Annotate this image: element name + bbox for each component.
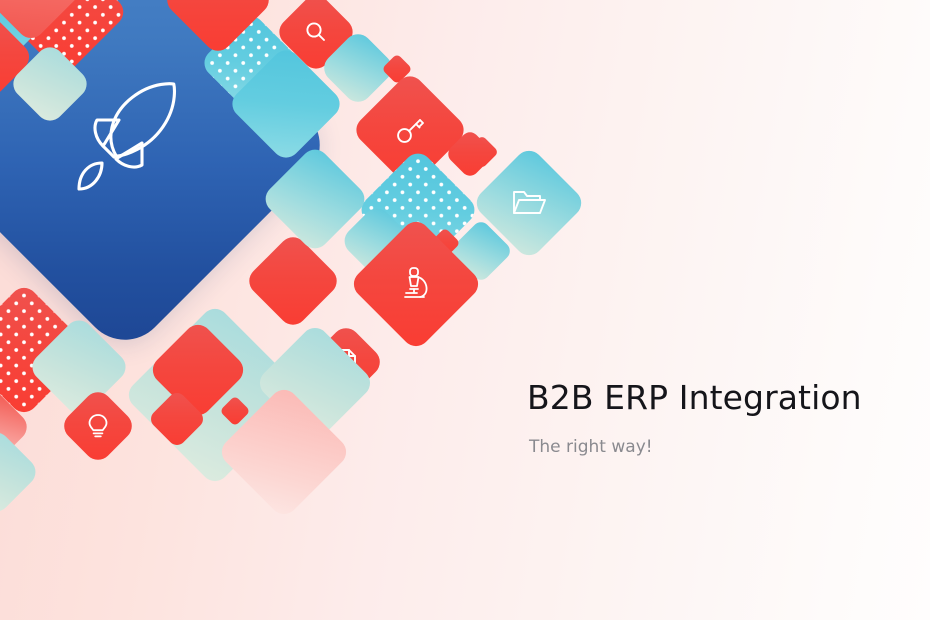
microscope-icon [396,264,436,304]
key-icon [393,113,427,147]
search-icon [303,19,329,45]
folder-icon [511,187,547,219]
bulb-icon [86,413,110,439]
slide-canvas: B2B ERP Integration The right way! [0,0,930,620]
page-subtitle: The right way! [529,435,887,459]
title-block: B2B ERP Integration The right way! [527,378,887,459]
tile-cyan-far-left-bot [0,427,41,518]
tile-red-right-of-hero [244,232,343,331]
rocket-icon [59,79,191,211]
page-title: B2B ERP Integration [527,378,887,418]
